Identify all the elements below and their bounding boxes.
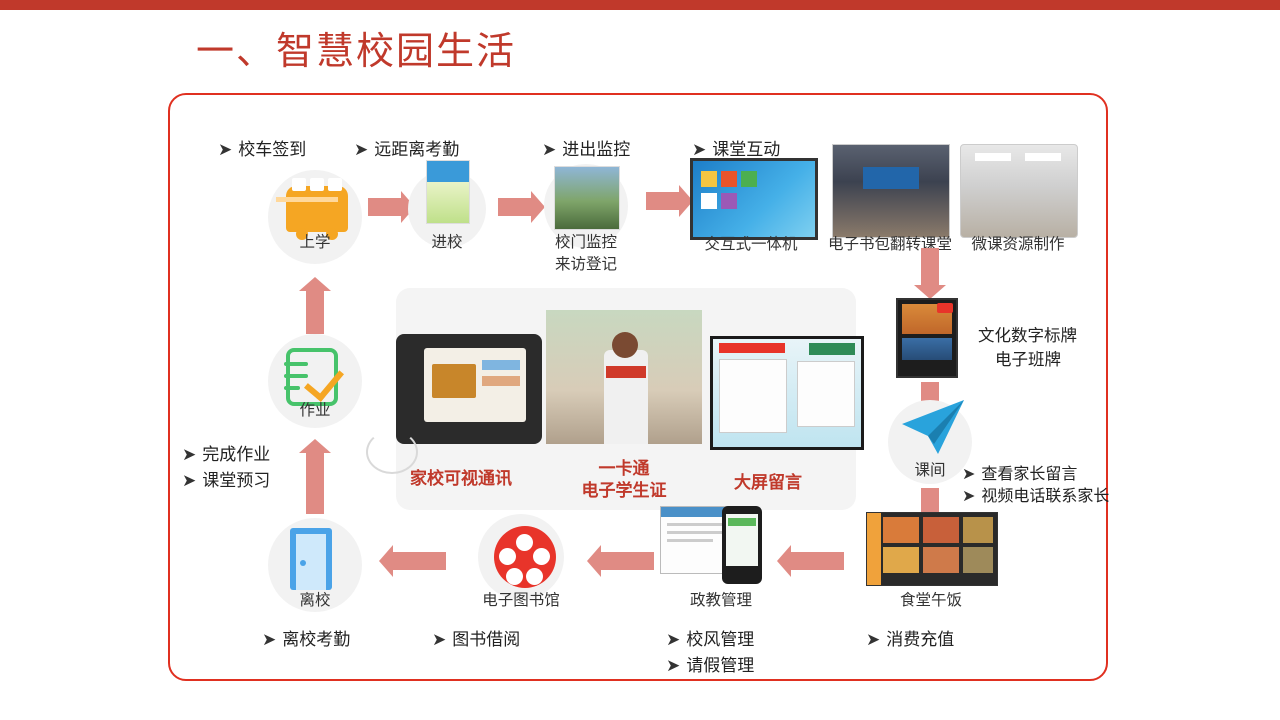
label-digital-signage-line2: 电子班牌	[995, 346, 1061, 370]
bullet-label: 校风管理	[686, 630, 754, 649]
bullet-label: 课堂互动	[712, 140, 780, 159]
arrow-canteen-to-moral	[790, 552, 844, 570]
bullet-finish-homework: ➤完成作业	[182, 440, 270, 465]
node-label-enter-school: 进校	[408, 230, 486, 252]
bullet-label: 完成作业	[202, 445, 270, 464]
classroom-photo-microlesson	[960, 144, 1078, 238]
arrow-classroom-to-signage	[921, 248, 939, 286]
bullet-marker: ➤	[182, 445, 196, 464]
visual-intercom-device-photo	[396, 334, 542, 444]
bullet-long-distance-attendance: ➤远距离考勤	[354, 135, 459, 160]
bullet-marker: ➤	[354, 140, 368, 159]
node-label-homework: 作业	[268, 398, 362, 420]
gate-camera-photo	[554, 166, 620, 230]
caption-one-card-line1: 一卡通	[548, 458, 700, 479]
paper-plane-icon	[898, 398, 968, 458]
bullet-school-bus-signin: ➤校车签到	[218, 135, 306, 160]
bullet-label: 进出监控	[562, 140, 630, 159]
bullet-consumption-recharge: ➤消费充值	[866, 625, 954, 650]
node-label-moral-education: 政教管理	[660, 588, 782, 610]
student-card-photo	[426, 160, 470, 224]
arrow-moral-to-library	[600, 552, 654, 570]
arrow-leave-to-homework	[306, 452, 324, 514]
bullet-label: 离校考勤	[282, 630, 350, 649]
node-label-gate-monitoring-line2: 来访登记	[534, 252, 638, 274]
bullet-label: 消费充值	[886, 630, 954, 649]
node-label-e-library: 电子图书馆	[456, 588, 586, 610]
bullet-marker: ➤	[182, 471, 196, 490]
arrow-homework-to-school	[306, 290, 324, 334]
bullet-marker: ➤	[962, 488, 975, 505]
arrow-school-to-entry	[368, 198, 402, 216]
film-reel-icon	[482, 516, 568, 598]
arrow-library-to-leave	[392, 552, 446, 570]
digital-signage-photo	[896, 298, 958, 378]
top-accent-bar	[0, 0, 1280, 10]
caption-big-screen-message: 大屏留言	[734, 468, 802, 493]
classroom-photo-interactive-board	[690, 158, 818, 240]
node-label-class-break: 课间	[888, 458, 972, 480]
bullet-marker: ➤	[666, 630, 680, 649]
caption-one-card-line2: 电子学生证	[548, 480, 700, 501]
bullet-view-parent-message: ➤查看家长留言	[962, 460, 1077, 484]
bullet-label: 请假管理	[686, 656, 754, 675]
node-label-go-to-school: 上学	[268, 230, 362, 252]
arrow-break-to-canteen	[921, 488, 939, 514]
bullet-classroom-interaction: ➤课堂互动	[692, 135, 780, 160]
bullet-marker: ➤	[962, 466, 975, 483]
bullet-marker: ➤	[866, 630, 880, 649]
bullet-label: 查看家长留言	[981, 466, 1077, 483]
bullet-marker: ➤	[542, 140, 556, 159]
bullet-leave-request-management: ➤请假管理	[666, 651, 754, 676]
bullet-label: 远距离考勤	[374, 140, 459, 159]
bullet-marker: ➤	[262, 630, 276, 649]
classroom-photo-ebag-flipped	[832, 144, 950, 238]
handheld-terminal-photo	[722, 506, 762, 584]
caption-interactive-board: 交互式一体机	[676, 232, 826, 254]
page-title: 一、智慧校园生活	[196, 20, 516, 75]
label-digital-signage-line1: 文化数字标牌	[978, 322, 1077, 346]
bullet-label: 视频电话联系家长	[981, 488, 1109, 505]
bullet-book-borrowing: ➤图书借阅	[432, 625, 520, 650]
bullet-leave-attendance: ➤离校考勤	[262, 625, 350, 650]
bullet-marker: ➤	[666, 656, 680, 675]
node-label-canteen-lunch: 食堂午饭	[866, 588, 996, 610]
bullet-label: 图书借阅	[452, 630, 520, 649]
arrow-gate-to-classroom	[646, 192, 680, 210]
student-card-usage-photo	[546, 310, 702, 444]
canteen-screen-photo	[866, 512, 998, 586]
bullet-marker: ➤	[432, 630, 446, 649]
arrow-entry-to-gate	[498, 198, 532, 216]
bullet-school-spirit-management: ➤校风管理	[666, 625, 754, 650]
caption-ebag-flipped-classroom: 电子书包翻转课堂	[808, 232, 972, 254]
node-label-gate-monitoring-line1: 校门监控	[534, 230, 638, 252]
big-screen-message-photo	[710, 336, 864, 450]
bullet-entry-exit-monitoring: ➤进出监控	[542, 135, 630, 160]
bullet-label: 课堂预习	[202, 471, 270, 490]
bullet-label: 校车签到	[238, 140, 306, 159]
bullet-marker: ➤	[692, 140, 706, 159]
caption-home-school-video: 家校可视通讯	[410, 464, 512, 489]
bullet-class-preview: ➤课堂预习	[182, 466, 270, 491]
bullet-video-call-parent: ➤视频电话联系家长	[962, 482, 1109, 506]
node-label-leave-school: 离校	[268, 588, 362, 610]
caption-microlesson-production: 微课资源制作	[952, 232, 1084, 254]
bullet-marker: ➤	[218, 140, 232, 159]
